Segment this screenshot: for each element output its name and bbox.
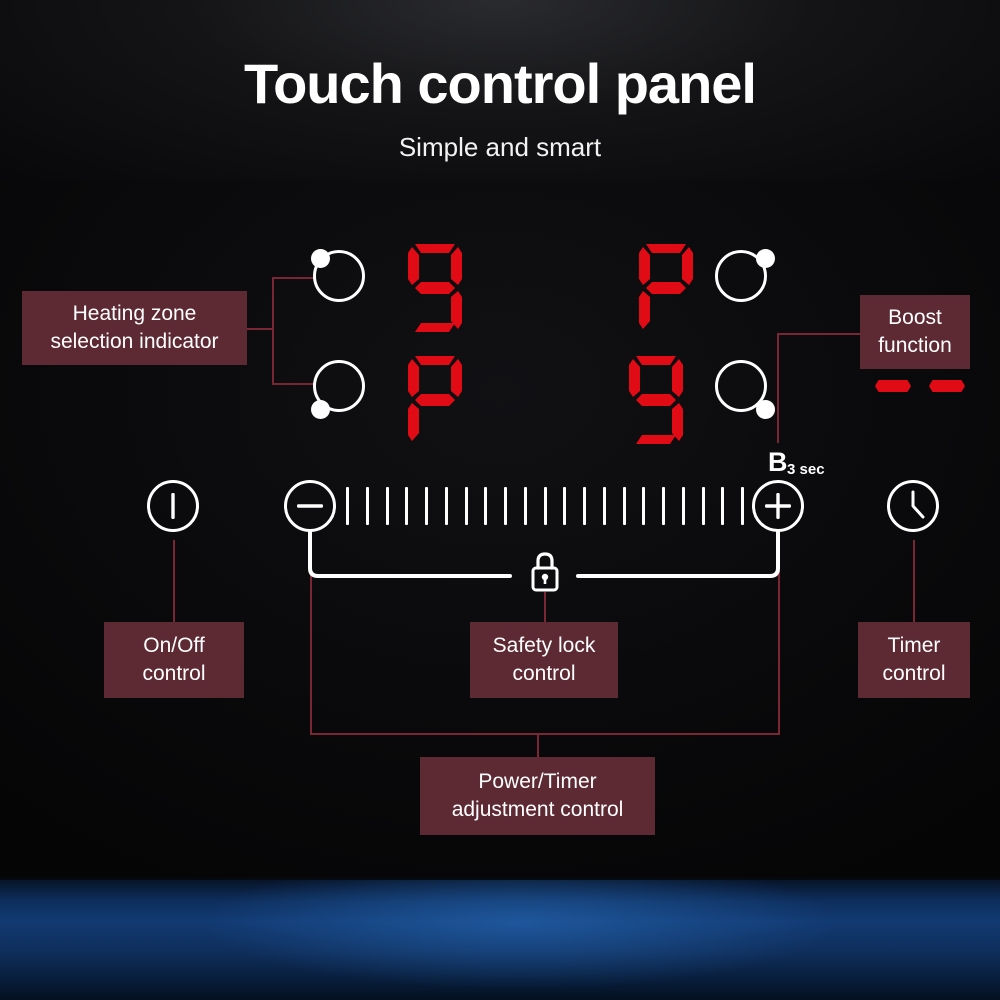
minus-icon xyxy=(287,483,333,529)
slider-tick xyxy=(741,487,744,525)
boost-key-letter: B xyxy=(768,447,788,478)
label-safety-lock-control: Safety lock control xyxy=(470,622,618,698)
slider-tick xyxy=(623,487,626,525)
boost-indicator-dash-left xyxy=(875,380,911,392)
connector-heating-zone-spine xyxy=(272,277,274,385)
background-blue-band xyxy=(0,880,1000,1000)
zone-indicator-bottom-right[interactable] xyxy=(715,360,767,412)
slider-tick xyxy=(603,487,606,525)
plus-icon xyxy=(755,483,801,529)
zone-marker-dot xyxy=(756,400,775,419)
slider-tick xyxy=(386,487,389,525)
zone-indicator-bottom-left[interactable] xyxy=(313,360,365,412)
connector-heating-zone-stub xyxy=(247,328,273,330)
slider-tick xyxy=(642,487,645,525)
rear-right-display xyxy=(636,240,696,336)
slider-tick xyxy=(484,487,487,525)
padlock-icon xyxy=(528,550,562,594)
zone-indicator-top-left[interactable] xyxy=(313,250,365,302)
connector-heating-zone-bottom xyxy=(272,383,314,385)
front-left-display xyxy=(405,240,465,336)
connector-heating-zone-top xyxy=(272,277,314,279)
zone-marker-dot xyxy=(756,249,775,268)
increase-button[interactable] xyxy=(752,480,804,532)
slider-tick xyxy=(702,487,705,525)
boost-key-duration: 3 sec xyxy=(787,461,825,478)
boost-indicator-dash-right xyxy=(929,380,965,392)
power-level-slider[interactable] xyxy=(346,487,744,525)
label-line-1: On/Off xyxy=(142,632,205,660)
rear-left-display xyxy=(405,352,465,448)
label-line-1: Timer xyxy=(882,632,945,660)
clock-icon xyxy=(890,483,936,529)
label-heating-zone-selection-indicator: Heating zone selection indicator xyxy=(22,291,247,365)
label-line-2: function xyxy=(878,332,952,360)
connector-on-off xyxy=(173,540,175,622)
slider-tick xyxy=(682,487,685,525)
on-off-button[interactable] xyxy=(147,480,199,532)
label-power-timer-adjustment-control: Power/Timer adjustment control xyxy=(420,757,655,835)
label-line-1: Boost xyxy=(878,304,952,332)
slider-tick xyxy=(583,487,586,525)
slider-tick xyxy=(445,487,448,525)
seven-segment-digit-P xyxy=(405,352,465,448)
slider-tick xyxy=(721,487,724,525)
zone-marker-dot xyxy=(311,249,330,268)
seven-segment-digit-P xyxy=(636,240,696,336)
label-timer-control: Timer control xyxy=(858,622,970,698)
label-line-2: control xyxy=(882,660,945,688)
slider-tick xyxy=(366,487,369,525)
slider-tick xyxy=(346,487,349,525)
touch-control-panel-infographic: Touch control panel Simple and smart xyxy=(0,0,1000,1000)
slider-tick xyxy=(465,487,468,525)
seven-segment-digit-9 xyxy=(626,352,686,448)
slider-tick xyxy=(425,487,428,525)
slider-tick xyxy=(563,487,566,525)
label-line-2: control xyxy=(142,660,205,688)
zone-indicator-top-right[interactable] xyxy=(715,250,767,302)
connector-timer xyxy=(913,540,915,622)
zone-marker-dot xyxy=(311,400,330,419)
label-line-2: selection indicator xyxy=(50,328,218,356)
decrease-button[interactable] xyxy=(284,480,336,532)
seven-segment-digit-9 xyxy=(405,240,465,336)
slider-tick xyxy=(662,487,665,525)
label-line-1: Heating zone xyxy=(50,300,218,328)
slider-tick xyxy=(544,487,547,525)
label-boost-function: Boost function xyxy=(860,295,970,369)
page-subtitle: Simple and smart xyxy=(0,134,1000,160)
label-line-1: Power/Timer xyxy=(452,768,624,796)
power-on-off-icon xyxy=(150,483,196,529)
label-line-2: control xyxy=(493,660,596,688)
slider-tick xyxy=(504,487,507,525)
label-on-off-control: On/Off control xyxy=(104,622,244,698)
front-right-display xyxy=(626,352,686,448)
label-line-2: adjustment control xyxy=(452,796,624,824)
page-title: Touch control panel xyxy=(0,56,1000,112)
slider-tick xyxy=(405,487,408,525)
connector-boost-horizontal xyxy=(777,333,860,335)
safety-lock-button[interactable] xyxy=(528,550,562,599)
timer-button[interactable] xyxy=(887,480,939,532)
connector-power-drop xyxy=(537,733,539,757)
connector-boost-vertical xyxy=(777,333,779,443)
connector-power-horizontal xyxy=(310,733,780,735)
label-line-1: Safety lock xyxy=(493,632,596,660)
slider-tick xyxy=(524,487,527,525)
